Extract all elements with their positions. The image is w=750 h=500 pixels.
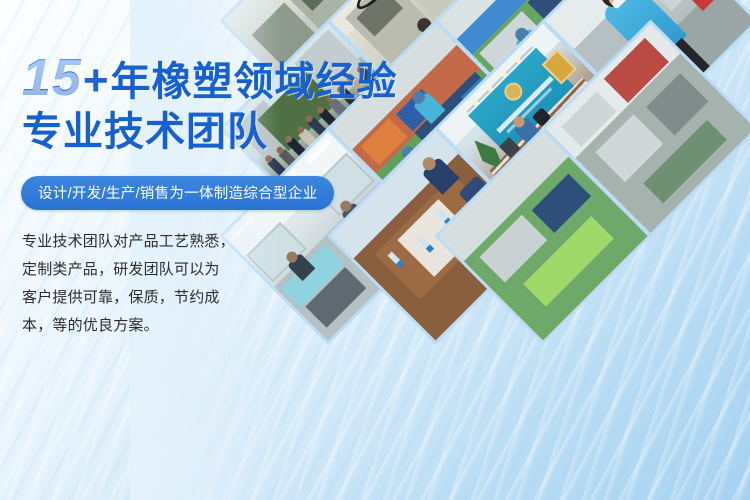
- body-line: 本，等的优良方案。: [22, 312, 272, 340]
- company-profile-banner: 15 + 年橡塑领域经验 专业技术团队 设计/开发/生产/销售为一体制造综合型企…: [0, 0, 750, 500]
- body-line: 客户提供可靠，保质，节约成: [22, 284, 272, 312]
- headline-line-1-text: 年橡塑领域经验: [111, 62, 398, 102]
- tagline-badge: 设计/开发/生产/销售为一体制造综合型企业: [21, 176, 334, 210]
- copy-column: 15 + 年橡塑领域经验 专业技术团队 设计/开发/生产/销售为一体制造综合型企…: [0, 0, 470, 500]
- body-line: 定制类产品，研发团队可以为: [22, 256, 272, 284]
- headline-group: 15 + 年橡塑领域经验 专业技术团队: [22, 52, 472, 153]
- years-number: 15: [22, 52, 82, 104]
- headline-line-1: 15 + 年橡塑领域经验: [22, 52, 472, 104]
- body-paragraph: 专业技术团队对产品工艺熟悉， 定制类产品，研发团队可以为 客户提供可靠，保质，节…: [22, 228, 272, 340]
- headline-line-2-text: 专业技术团队: [22, 111, 472, 153]
- body-line: 专业技术团队对产品工艺熟悉，: [22, 228, 272, 256]
- plus-sign-icon: +: [83, 59, 109, 103]
